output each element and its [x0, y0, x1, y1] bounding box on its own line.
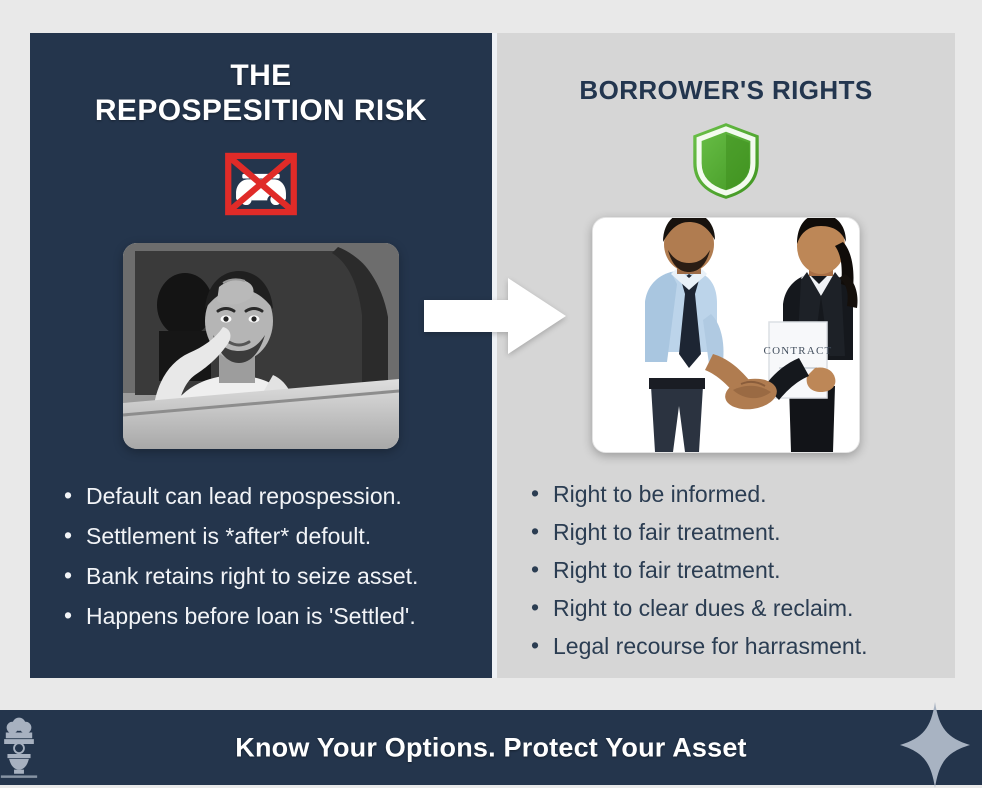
- list-item: Right to be informed.: [531, 483, 955, 506]
- contract-document-label: CONTRACT: [764, 345, 833, 357]
- risk-panel-title: THE REPOSPESITION RISK: [64, 59, 458, 129]
- borrower-rights-panel: BORROWER'S RIGHTS: [497, 33, 955, 678]
- list-item: Bank retains right to seize asset.: [64, 565, 492, 588]
- shield-icon: [497, 121, 955, 201]
- list-item: Right to fair treatment.: [531, 521, 955, 544]
- list-item: Settlement is *after* defoult.: [64, 525, 492, 548]
- infographic-canvas: THE REPOSPESITION RISK: [0, 0, 982, 785]
- footer-bar: Know Your Options. Protect Your Asset: [0, 710, 982, 785]
- footer-tagline: Know Your Options. Protect Your Asset: [0, 732, 982, 763]
- list-item: Legal recourse for harrasment.: [531, 635, 955, 658]
- list-item: Happens before loan is 'Settled'.: [64, 605, 492, 628]
- sparkle-icon: [900, 702, 970, 788]
- rights-panel-title: BORROWER'S RIGHTS: [521, 75, 931, 105]
- risk-title-line-2: REPOSPESITION RISK: [64, 94, 458, 129]
- list-item: Right to fair treatment.: [531, 559, 955, 582]
- no-car-icon: [30, 143, 492, 225]
- right-arrow-icon: [424, 278, 566, 354]
- list-item: Right to clear dues & reclaim.: [531, 597, 955, 620]
- risk-title-line-1: THE: [64, 59, 458, 94]
- worried-borrower-photo: [123, 243, 399, 449]
- list-item: Default can lead repospession.: [64, 485, 492, 508]
- handshake-agreement-photo: CONTRACT: [592, 217, 860, 453]
- rights-bullet-list: Right to be informed. Right to fair trea…: [531, 483, 955, 658]
- repossession-risk-panel: THE REPOSPESITION RISK: [30, 33, 492, 678]
- risk-bullet-list: Default can lead repospession. Settlemen…: [64, 485, 492, 628]
